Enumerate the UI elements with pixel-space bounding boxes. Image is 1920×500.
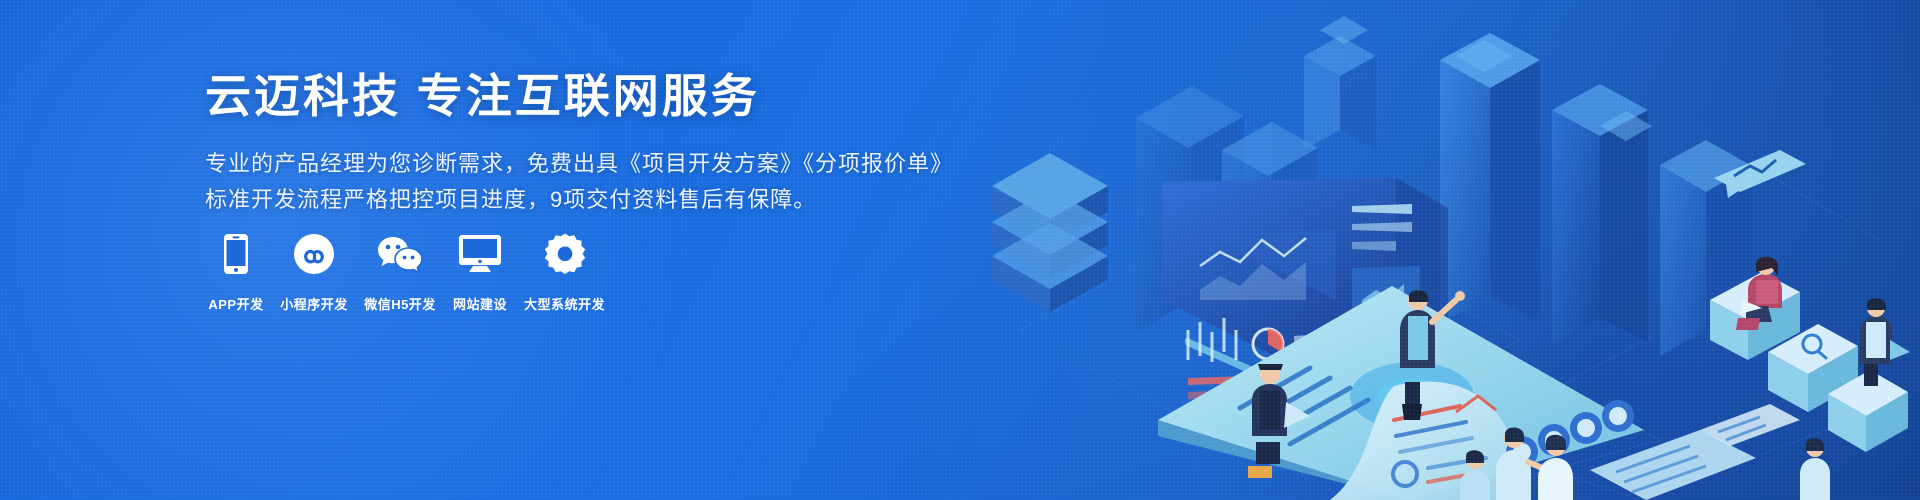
service-label: 大型系统开发 [524,294,605,313]
mini-program-icon [294,232,334,276]
subtitle-line-1: 专业的产品经理为您诊断需求，免费出具《项目开发方案》《分项报价单》 [205,146,905,182]
gear-icon [544,232,586,276]
banner-copy: 云迈科技 专注互联网服务 专业的产品经理为您诊断需求，免费出具《项目开发方案》《… [205,68,905,218]
service-item-mini-program[interactable]: 小程序开发 [272,232,356,313]
page-title: 云迈科技 专注互联网服务 [205,68,905,126]
hero-banner: 云迈科技 专注互联网服务 专业的产品经理为您诊断需求，免费出具《项目开发方案》《… [0,0,1920,500]
service-label: APP开发 [208,294,263,313]
subtitle-line-2: 标准开发流程严格把控项目进度，9项交付资料售后有保障。 [205,182,905,218]
service-label: 网站建设 [453,294,507,313]
service-item-app[interactable]: APP开发 [200,232,272,313]
service-item-wechat-h5[interactable]: 微信H5开发 [356,232,444,313]
service-label: 小程序开发 [280,294,348,313]
monitor-icon [459,232,501,276]
mobile-phone-icon [224,232,248,276]
service-item-website[interactable]: 网站建设 [444,232,516,313]
wechat-icon [377,232,423,276]
service-label: 微信H5开发 [364,294,436,313]
banner-subtitle: 专业的产品经理为您诊断需求，免费出具《项目开发方案》《分项报价单》 标准开发流程… [205,146,905,219]
service-item-large-system[interactable]: 大型系统开发 [516,232,613,313]
service-list: APP开发 小程序开发 [200,232,613,313]
isometric-data-analytics-illustration [900,0,1920,500]
